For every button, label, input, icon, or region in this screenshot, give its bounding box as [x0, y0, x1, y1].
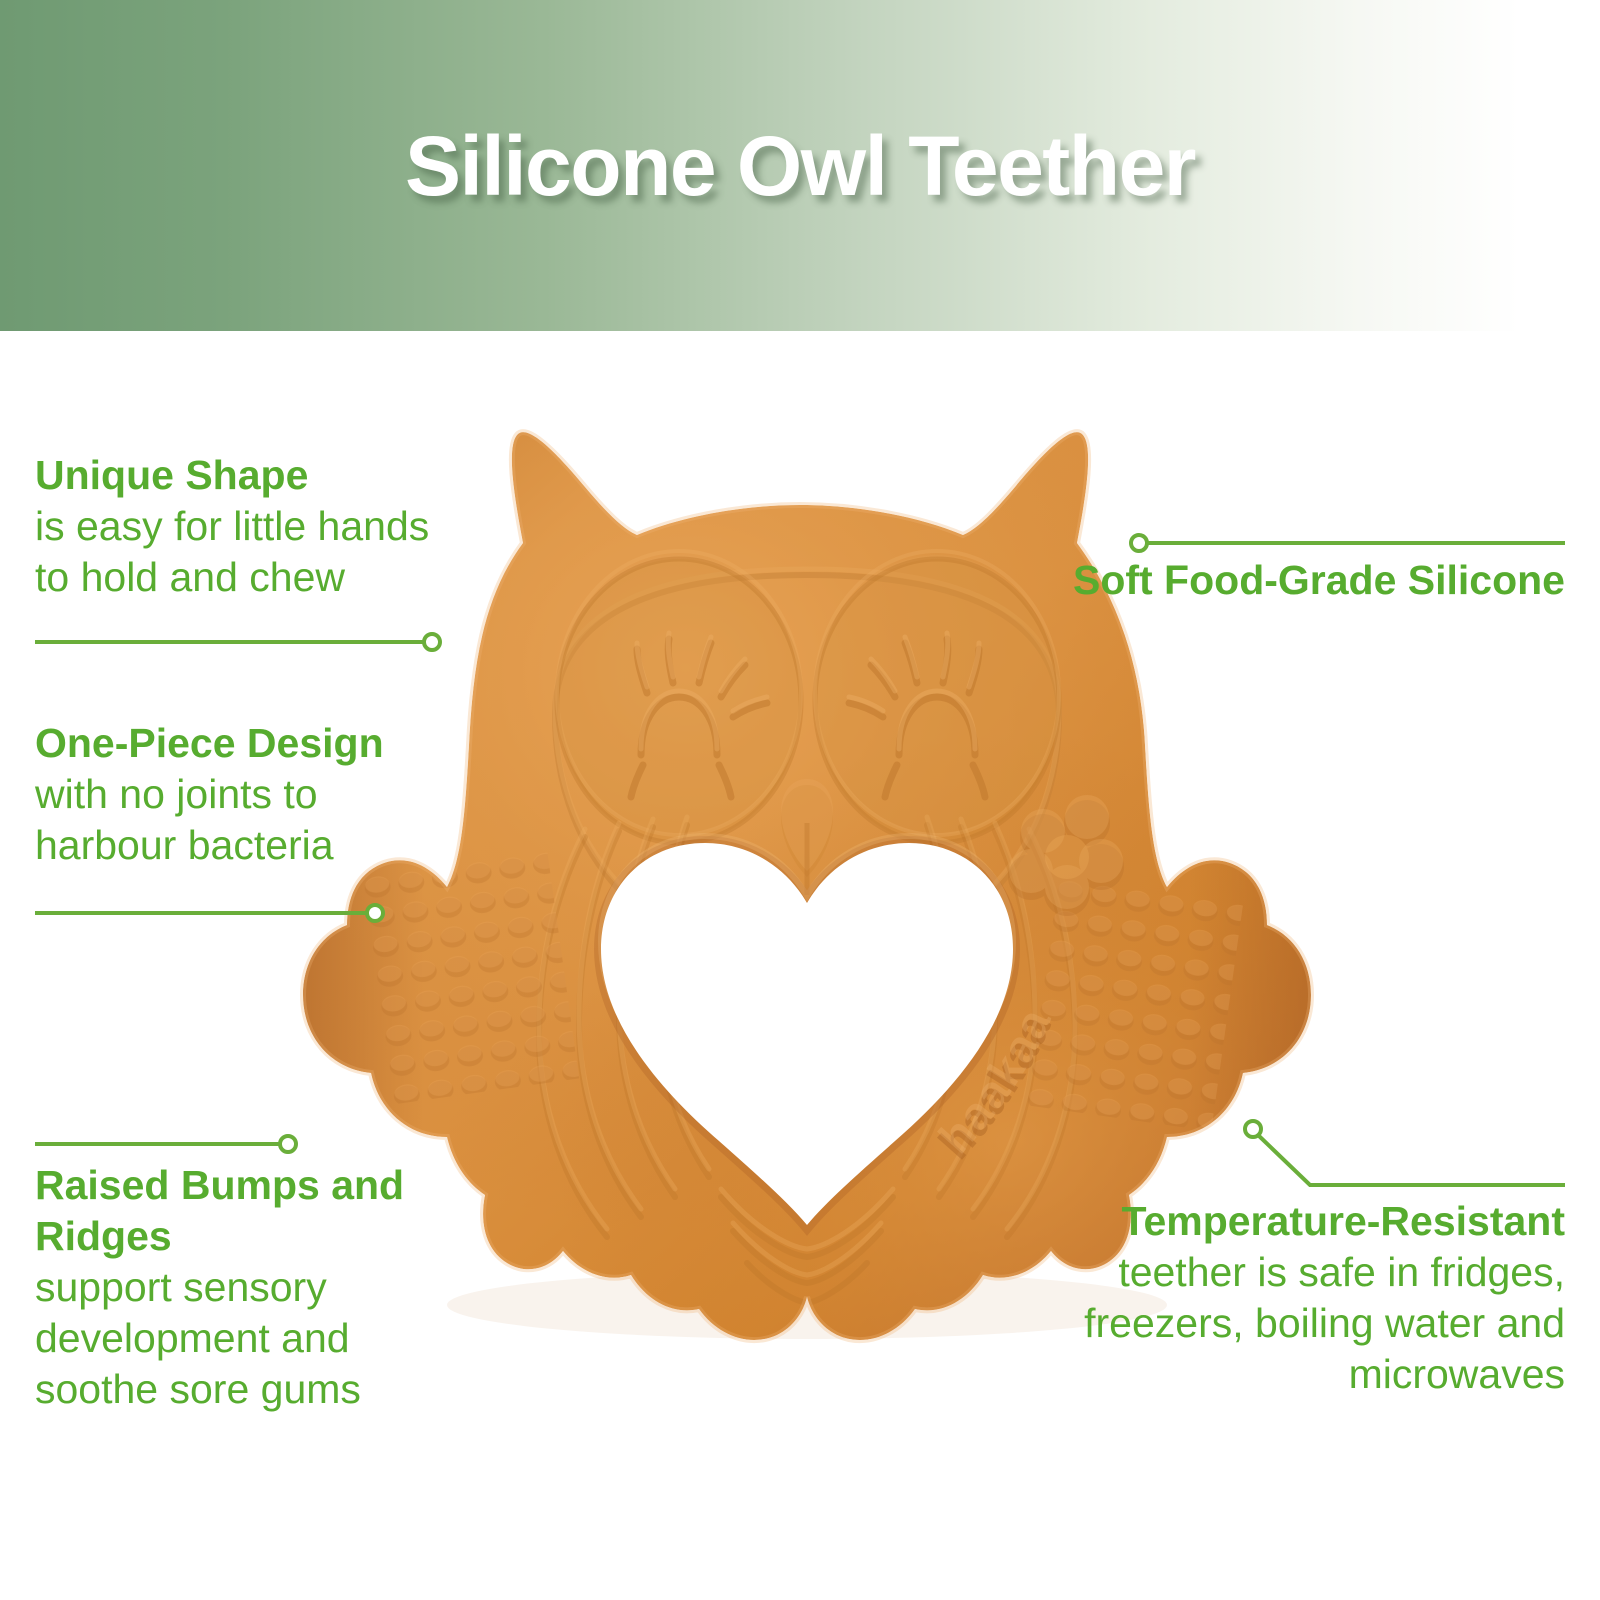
callout-soft-silicone: Soft Food-Grade Silicone — [1005, 555, 1565, 606]
callout-one-piece: One-Piece Design with no joints to harbo… — [35, 718, 435, 871]
callout-heading: Temperature-Resistant — [1020, 1196, 1565, 1247]
callout-body: with no joints to harbour bacteria — [35, 769, 435, 871]
callout-heading: Unique Shape — [35, 450, 465, 501]
callout-temp-resistant: Temperature-Resistant teether is safe in… — [1020, 1196, 1565, 1400]
callout-body: is easy for little hands to hold and che… — [35, 501, 465, 603]
callout-heading: One-Piece Design — [35, 718, 435, 769]
callout-body: support sensory development and soothe s… — [35, 1262, 435, 1415]
callout-heading: Soft Food-Grade Silicone — [1005, 555, 1565, 606]
page-title: Silicone Owl Teether — [0, 118, 1600, 215]
callout-unique-shape: Unique Shape is easy for little hands to… — [35, 450, 465, 603]
callout-body: teether is safe in fridges, freezers, bo… — [1020, 1247, 1565, 1400]
callout-raised-bumps: Raised Bumps and Ridges support sensory … — [35, 1160, 435, 1415]
header-banner: Silicone Owl Teether — [0, 0, 1600, 331]
callout-heading: Raised Bumps and Ridges — [35, 1160, 435, 1262]
